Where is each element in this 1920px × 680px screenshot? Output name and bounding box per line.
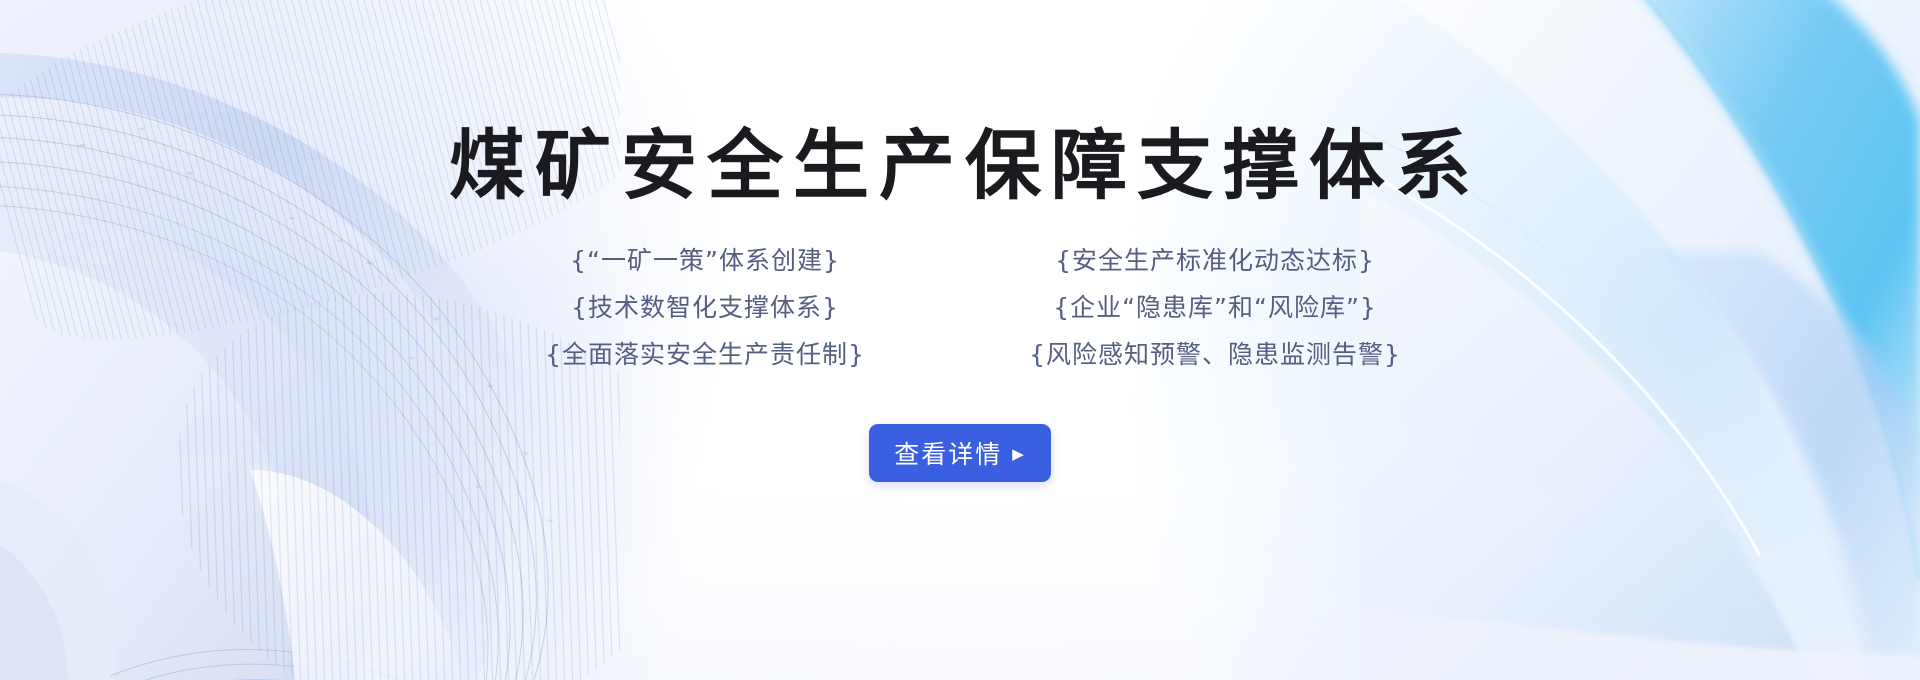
page-title: 煤矿安全生产保障支撑体系 (439, 125, 1481, 207)
subtitle-item: {全面落实安全生产责任制} (470, 331, 940, 378)
subtitle-column-right: {安全生产标准化动态达标} {企业“隐患库”和“风险库”} {风险感知预警、隐患… (980, 237, 1450, 378)
subtitle-item: {企业“隐患库”和“风险库”} (980, 284, 1450, 331)
subtitle-item: {风险感知预警、隐患监测告警} (980, 331, 1450, 378)
banner-content: 煤矿安全生产保障支撑体系 {“一矿一策”体系创建} {技术数智化支撑体系} {全… (0, 0, 1920, 680)
subtitle-item: {安全生产标准化动态达标} (980, 237, 1450, 284)
subtitle-item: {技术数智化支撑体系} (470, 284, 940, 331)
caret-right-icon: ▶ (1012, 447, 1026, 462)
hero-banner: 煤矿安全生产保障支撑体系 {“一矿一策”体系创建} {技术数智化支撑体系} {全… (0, 0, 1920, 680)
cta-container: 查看详情 ▶ (869, 424, 1051, 482)
view-details-button[interactable]: 查看详情 ▶ (869, 424, 1051, 482)
view-details-label: 查看详情 (894, 435, 1002, 471)
subtitle-column-left: {“一矿一策”体系创建} {技术数智化支撑体系} {全面落实安全生产责任制} (470, 237, 940, 378)
subtitle-grid: {“一矿一策”体系创建} {技术数智化支撑体系} {全面落实安全生产责任制} {… (470, 237, 1450, 378)
subtitle-item: {“一矿一策”体系创建} (470, 237, 940, 284)
